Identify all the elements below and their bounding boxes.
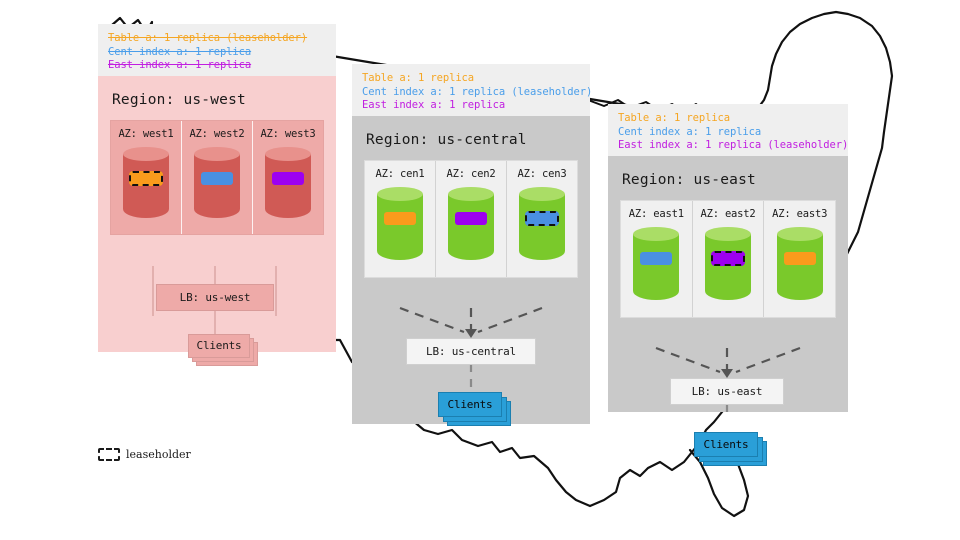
legend-line-east-index: East index a: 1 replica	[362, 99, 580, 113]
connector-diagonal-left	[400, 308, 464, 332]
az-row-us-east: AZ: east1 AZ: east2 AZ: east3	[620, 200, 836, 318]
cylinder-body	[705, 234, 751, 300]
legend-line-cent-index: Cent index a: 1 replica	[108, 46, 326, 60]
load-balancer-us-east[interactable]: LB: us-east	[670, 378, 784, 405]
az-cen3[interactable]: AZ: cen3	[506, 161, 577, 277]
cylinder-top	[265, 147, 311, 161]
region-body-us-east: Region: us-east AZ: east1 AZ: east2	[608, 156, 848, 412]
az-east2[interactable]: AZ: east2	[692, 201, 764, 317]
legend-line-table-a: Table a: 1 replica	[362, 72, 580, 86]
cylinder-top	[519, 187, 565, 201]
arrowhead-to-lb	[721, 369, 733, 378]
replica-chip[interactable]	[201, 172, 233, 185]
replica-chip-leaseholder[interactable]	[711, 251, 745, 266]
replica-chip-leaseholder[interactable]	[129, 171, 163, 186]
database-cylinder-west2[interactable]	[194, 147, 240, 225]
region-us-east[interactable]: Table a: 1 replica Cent index a: 1 repli…	[608, 104, 848, 412]
region-legend-us-west: Table a: 1 replica (leaseholder) Cent in…	[98, 24, 336, 76]
cylinder-top	[448, 187, 494, 201]
region-title-us-central: Region: us-central	[366, 132, 578, 148]
replica-chip[interactable]	[455, 212, 487, 225]
cylinder-body	[194, 154, 240, 218]
cylinder-body	[265, 154, 311, 218]
az-label: AZ: east2	[697, 208, 760, 220]
region-body-us-central: Region: us-central AZ: cen1 AZ: cen2	[352, 116, 590, 424]
arrowhead-to-lb	[465, 329, 477, 338]
database-cylinder-east3[interactable]	[777, 227, 823, 307]
az-label: AZ: west1	[115, 128, 177, 140]
legend-line-east-index: East index a: 1 replica	[108, 59, 326, 73]
replica-chip[interactable]	[384, 212, 416, 225]
cylinder-body	[448, 194, 494, 260]
az-label: AZ: cen3	[511, 168, 573, 180]
az-label: AZ: east3	[768, 208, 831, 220]
database-cylinder-west3[interactable]	[265, 147, 311, 225]
replica-chip[interactable]	[640, 252, 672, 265]
az-label: AZ: east1	[625, 208, 688, 220]
clients-card-front[interactable]: Clients	[188, 334, 250, 358]
region-us-central[interactable]: Table a: 1 replica Cent index a: 1 repli…	[352, 64, 590, 424]
load-balancer-us-west[interactable]: LB: us-west	[156, 284, 274, 311]
az-east3[interactable]: AZ: east3	[763, 201, 835, 317]
az-label: AZ: cen1	[369, 168, 431, 180]
dashed-rect-icon	[98, 448, 120, 461]
legend-line-cent-index: Cent index a: 1 replica (leaseholder)	[362, 86, 580, 100]
database-cylinder-cen3[interactable]	[519, 187, 565, 267]
region-title-us-east: Region: us-east	[622, 172, 836, 188]
az-label: AZ: west2	[186, 128, 248, 140]
region-us-west[interactable]: Table a: 1 replica (leaseholder) Cent in…	[98, 24, 336, 352]
cylinder-top	[194, 147, 240, 161]
cylinder-top	[633, 227, 679, 241]
az-label: AZ: west3	[257, 128, 319, 140]
replica-chip[interactable]	[272, 172, 304, 185]
database-cylinder-cen1[interactable]	[377, 187, 423, 267]
az-west3[interactable]: AZ: west3	[252, 121, 323, 234]
az-row-us-west: AZ: west1 AZ: west2 AZ: west3	[110, 120, 324, 235]
clients-card-front[interactable]: Clients	[694, 432, 758, 457]
region-body-us-west: Region: us-west AZ: west1 AZ: west2	[98, 76, 336, 352]
legend-line-east-index: East index a: 1 replica (leaseholder)	[618, 139, 838, 153]
clients-stack-us-central[interactable]: Clients	[438, 392, 512, 428]
replica-chip-leaseholder[interactable]	[525, 211, 559, 226]
az-east1[interactable]: AZ: east1	[621, 201, 692, 317]
az-west2[interactable]: AZ: west2	[181, 121, 252, 234]
clients-stack-us-east[interactable]: Clients	[694, 432, 768, 468]
az-row-us-central: AZ: cen1 AZ: cen2 AZ: cen3	[364, 160, 578, 278]
database-cylinder-east1[interactable]	[633, 227, 679, 307]
cylinder-body	[777, 234, 823, 300]
database-cylinder-cen2[interactable]	[448, 187, 494, 267]
region-title-us-west: Region: us-west	[112, 92, 324, 108]
az-west1[interactable]: AZ: west1	[111, 121, 181, 234]
cylinder-body	[519, 194, 565, 260]
az-cen2[interactable]: AZ: cen2	[435, 161, 506, 277]
cylinder-top	[777, 227, 823, 241]
clients-stack-us-west[interactable]: Clients	[188, 334, 258, 368]
replica-chip[interactable]	[784, 252, 816, 265]
database-cylinder-east2[interactable]	[705, 227, 751, 307]
cylinder-top	[123, 147, 169, 161]
cylinder-body	[377, 194, 423, 260]
region-legend-us-east: Table a: 1 replica Cent index a: 1 repli…	[608, 104, 848, 156]
clients-card-front[interactable]: Clients	[438, 392, 502, 417]
legend-line-cent-index: Cent index a: 1 replica	[618, 126, 838, 140]
az-label: AZ: cen2	[440, 168, 502, 180]
cylinder-top	[377, 187, 423, 201]
legend-line-table-a: Table a: 1 replica	[618, 112, 838, 126]
cylinder-top	[705, 227, 751, 241]
connector-diagonal-left	[656, 348, 720, 372]
connector-diagonal-right	[736, 348, 800, 372]
leaseholder-legend: leaseholder	[98, 448, 191, 461]
load-balancer-us-central[interactable]: LB: us-central	[406, 338, 536, 365]
legend-line-table-a: Table a: 1 replica (leaseholder)	[108, 32, 326, 46]
connector-diagonal-right	[478, 308, 542, 332]
database-cylinder-west1[interactable]	[123, 147, 169, 225]
cylinder-body	[123, 154, 169, 218]
region-legend-us-central: Table a: 1 replica Cent index a: 1 repli…	[352, 64, 590, 116]
az-cen1[interactable]: AZ: cen1	[365, 161, 435, 277]
leaseholder-legend-label: leaseholder	[126, 448, 191, 461]
cylinder-body	[633, 234, 679, 300]
